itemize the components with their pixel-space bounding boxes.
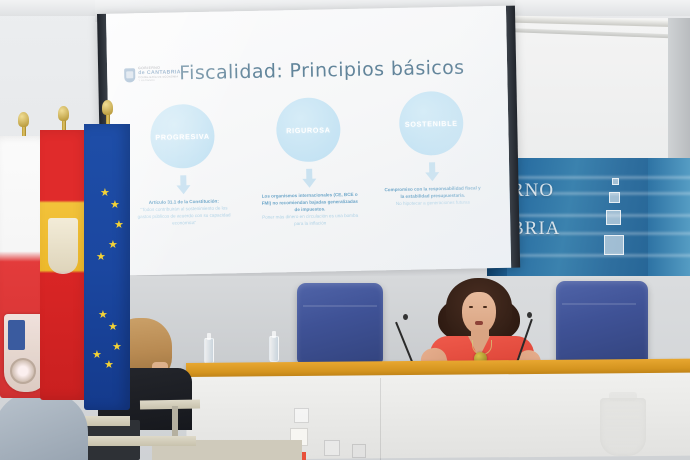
down-arrow-icon	[302, 169, 316, 189]
chair-center	[297, 283, 383, 363]
down-arrow-icon	[425, 162, 439, 182]
projection-screen: GOBIERNO de CANTABRIA CONSEJERÍA DE ECON…	[97, 6, 520, 276]
logo-line-4: Y HACIENDA	[138, 79, 181, 83]
circle-rigurosa: RIGUROSA	[276, 97, 341, 162]
face	[462, 292, 496, 334]
desk-decor-square	[352, 444, 366, 458]
flag-finial-icon	[18, 112, 29, 127]
column-heading: Artículo 31.1 de la Constitución:	[149, 199, 219, 205]
column-text: Los organismos internacionales (CE, BCE …	[250, 192, 371, 229]
column-body: "Todos contribuirán al sostenimiento de …	[134, 205, 234, 228]
flag-group: ★ ★ ★ ★ ★ ★ ★ ★ ★ ★	[0, 104, 108, 414]
circle-label: RIGUROSA	[286, 125, 331, 135]
desk-decor-square	[294, 408, 309, 423]
backdrop-square-2	[609, 192, 620, 203]
microphone-icon	[527, 312, 532, 318]
column-text: Compromiso con la responsabilidad fiscal…	[373, 185, 493, 208]
column-body: Poner más dinero en circulación es una b…	[260, 212, 360, 228]
foreground-desk-back	[140, 399, 200, 409]
backdrop-square-4	[604, 235, 624, 255]
backdrop-square-3	[606, 210, 621, 225]
slide-column-rigurosa: RIGUROSA Los organismos internacionales …	[248, 97, 371, 229]
circle-label: PROGRESIVA	[155, 131, 210, 141]
flag-finial-icon	[102, 100, 113, 115]
circle-progresiva: PROGRESIVA	[150, 104, 215, 169]
slide-column-sostenible: SOSTENIBLE Compromiso con la responsabil…	[371, 90, 493, 208]
eye-left	[469, 306, 473, 308]
desk-leg	[172, 406, 178, 438]
column-body: No hipotecar a generaciones futuras	[383, 199, 483, 208]
column-heading: Los organismos internacionales (CE, BCE …	[262, 192, 358, 212]
circle-sostenible: SOSTENIBLE	[399, 91, 464, 156]
microphone-icon	[403, 314, 408, 320]
slide-logo: GOBIERNO de CANTABRIA CONSEJERÍA DE ECON…	[124, 66, 181, 83]
circle-label: SOSTENIBLE	[405, 118, 458, 128]
down-arrow-icon	[176, 175, 190, 195]
right-wall-upper	[500, 18, 690, 160]
embossed-coat-of-arms-icon	[600, 398, 646, 456]
slide-title: Fiscalidad: Principios básicos	[179, 57, 465, 85]
eye-right	[483, 306, 487, 308]
shield-icon	[124, 68, 135, 82]
press-conference-photo: RNO BRIA GOBIERNO de CANTABRIA CONSEJERÍ…	[0, 0, 690, 460]
desk-panel-seam	[380, 378, 381, 460]
flag-spain	[40, 130, 90, 400]
backdrop-square-1	[612, 178, 619, 185]
spain-coat-of-arms-icon	[48, 218, 78, 274]
column-text: Artículo 31.1 de la Constitución: "Todos…	[124, 198, 245, 228]
water-bottle	[204, 338, 214, 364]
water-bottle	[269, 336, 279, 362]
flag-european-union: ★ ★ ★ ★ ★ ★ ★ ★ ★ ★	[84, 124, 130, 410]
mouth	[475, 321, 483, 325]
chair-right	[556, 281, 648, 363]
desk-decor-square	[324, 440, 340, 456]
column-heading: Compromiso con la responsabilidad fiscal…	[384, 185, 480, 199]
presentation-slide: GOBIERNO de CANTABRIA CONSEJERÍA DE ECON…	[106, 6, 511, 276]
flag-finial-icon	[58, 106, 69, 121]
slide-column-progresiva: PROGRESIVA Artículo 31.1 de la Constituc…	[122, 103, 244, 228]
